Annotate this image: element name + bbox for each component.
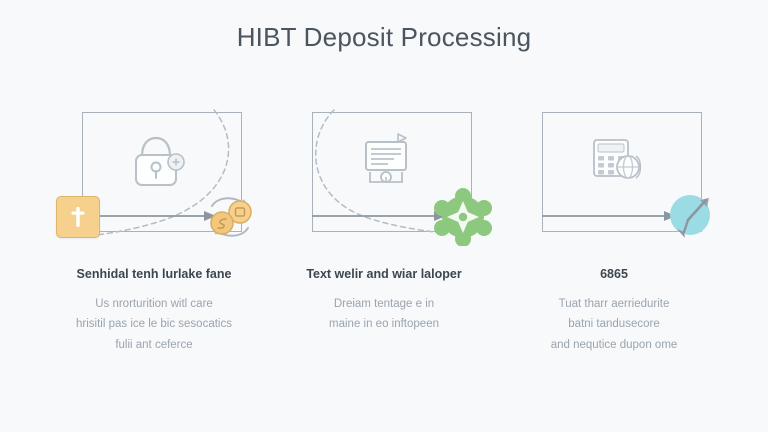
slide-canvas: HIBT Deposit Processing — [0, 0, 768, 432]
panel-3-body-line-3: and nequtice dupon ome — [509, 335, 719, 355]
panel-1-heading: Senhidal tenh lurlake fane — [77, 266, 232, 282]
panel-1-figure — [54, 104, 254, 252]
document-lock-icon — [346, 130, 426, 192]
panel-3-figure — [514, 104, 714, 252]
panel-2-body: Dreiam tentage e in maine in eo inftopee… — [279, 294, 489, 334]
panels-row: Senhidal tenh lurlake fane Us nrorturiti… — [0, 104, 768, 355]
panel-2-body-line-2: maine in eo inftopeen — [279, 314, 489, 334]
panel-1-body-line-2: hrisitil pas ice le bic sesocatics — [49, 314, 259, 334]
panel-1-source-badge — [56, 196, 100, 238]
panel-1: Senhidal tenh lurlake fane Us nrorturiti… — [54, 104, 254, 355]
panel-3-body: Tuat tharr aerriedurite batni tandusecor… — [509, 294, 719, 354]
panel-2-body-line-1: Dreiam tentage e in — [279, 294, 489, 314]
panel-1-body-line-1: Us nrorturition witl care — [49, 294, 259, 314]
gear-diamond-icon — [434, 188, 492, 246]
circle-arrow-icon — [664, 188, 722, 246]
panel-2-heading: Text welir and wiar laloper — [306, 266, 461, 282]
panel-3-heading: 6865 — [600, 266, 628, 282]
coins-cycle-icon — [202, 190, 258, 244]
panel-3-body-line-1: Tuat tharr aerriedurite — [509, 294, 719, 314]
panel-2: Text welir and wiar laloper Dreiam tenta… — [284, 104, 484, 355]
panel-1-body: Us nrorturition witl care hrisitil pas i… — [49, 294, 259, 354]
padlock-icon — [116, 130, 196, 192]
panel-3-body-line-2: batni tandusecore — [509, 314, 719, 334]
panel-2-figure — [284, 104, 484, 252]
calculator-globe-icon — [576, 130, 656, 192]
cross-marker-icon — [70, 205, 86, 229]
panel-3: 6865 Tuat tharr aerriedurite batni tandu… — [514, 104, 714, 355]
panel-1-body-line-3: fulii ant ceferce — [49, 335, 259, 355]
page-title: HIBT Deposit Processing — [0, 22, 768, 53]
